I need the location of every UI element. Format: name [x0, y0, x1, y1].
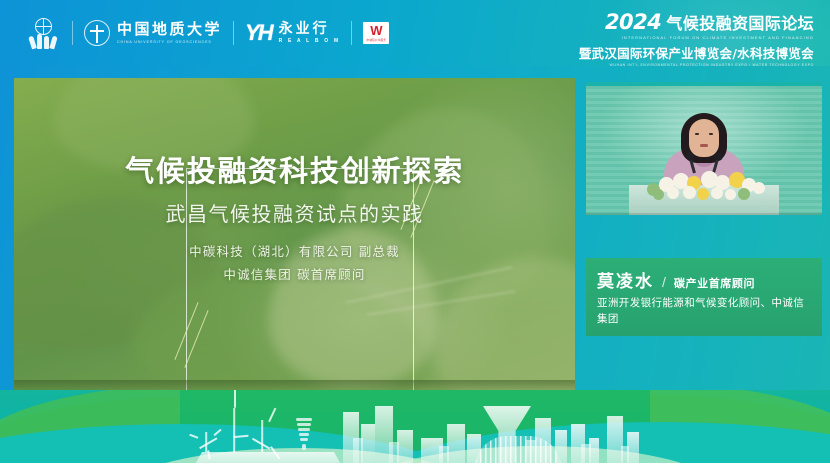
pagoda-tier: [298, 428, 310, 431]
flower: [753, 182, 765, 194]
video-top-edge: [586, 82, 822, 86]
turbine-blade: [189, 434, 198, 439]
speaker-info-panel: 莫凌水 / 碳产业首席顾问 亚洲开发银行能源和气候变化顾问、中诚信集团: [586, 258, 822, 336]
event-subtitle-en: WUHAN INT'L ENVIRONMENTAL PROTECTION IND…: [579, 63, 814, 66]
flower: [711, 187, 723, 199]
slide-affiliation-line: 中诚信集团 碳首席顾问: [14, 263, 575, 286]
figure-icon: [37, 34, 42, 49]
flower: [738, 188, 750, 200]
slide-affiliation-line: 中碳科技（湖北）有限公司 副总裁: [14, 240, 575, 263]
university-name-en: CHINA UNIVERSITY OF GEOSCIENCES: [117, 40, 222, 44]
speaker-face: [689, 119, 719, 157]
flower: [697, 188, 709, 200]
logo-partner: W 中城院公众服务: [352, 14, 400, 52]
pagoda-tier: [297, 423, 311, 426]
partner-caption: 中城院公众服务: [367, 38, 387, 42]
speaker-name: 莫凌水: [597, 267, 654, 292]
turbine-blade: [268, 408, 276, 422]
wind-turbine-icon: [205, 432, 207, 452]
sponsor-logo-row: 中国地质大学 CHINA UNIVERSITY OF GEOSCIENCES Y…: [16, 14, 400, 52]
partner-logo-box: W 中城院公众服务: [363, 22, 389, 44]
logo-china-university-of-geosciences: 中国地质大学 CHINA UNIVERSITY OF GEOSCIENCES: [73, 14, 233, 52]
video-bottom-edge: [586, 213, 822, 215]
flower: [653, 189, 664, 200]
speaker-affiliation: 亚洲开发银行能源和气候变化顾问、中诚信集团: [597, 296, 811, 328]
figure-icon: [28, 36, 37, 50]
globe-icon: [35, 18, 52, 35]
pagoda-tier: [300, 438, 308, 441]
building: [361, 424, 375, 468]
eye-icon: [709, 133, 713, 135]
flower: [683, 186, 696, 199]
event-header-bar: 中国地质大学 CHINA UNIVERSITY OF GEOSCIENCES Y…: [0, 0, 830, 66]
presentation-slide[interactable]: 气候投融资科技创新探索 武昌气候投融资试点的实践 中碳科技（湖北）有限公司 副总…: [14, 78, 575, 391]
bottom-decoration-band: [0, 390, 830, 468]
slide-affiliation-block: 中碳科技（湖北）有限公司 副总裁 中诚信集团 碳首席顾问: [14, 240, 575, 286]
flower: [667, 187, 679, 199]
broadcast-stage: 中国地质大学 CHINA UNIVERSITY OF GEOSCIENCES Y…: [0, 0, 830, 468]
figure-icon: [44, 36, 49, 49]
event-title-cn: 气候投融资国际论坛: [666, 10, 814, 34]
event-subtitle-cn: 暨武汉国际环保产业博览会/水科技博览会: [579, 43, 814, 62]
turbine-pole: [261, 420, 263, 452]
realbom-mark-icon: YH: [245, 20, 272, 46]
speaker-video-feed[interactable]: [586, 82, 822, 215]
slide-subtitle: 武昌气候投融资试点的实践: [14, 198, 575, 227]
turbine-blade: [199, 438, 217, 449]
speaker-role: 碳产业首席顾问: [674, 275, 755, 291]
logo-realbom: YH 永业行 R E A L B O M: [234, 14, 351, 52]
flower: [725, 189, 736, 200]
pagoda-tier: [296, 418, 312, 421]
event-title-block: 2024 气候投融资国际论坛 INTERNATIONAL FORUM ON CL…: [579, 10, 814, 66]
speaker-separator: /: [662, 274, 666, 290]
building: [447, 424, 465, 468]
realbom-name-en: R E A L B O M: [279, 38, 341, 44]
turbine-blade: [213, 429, 221, 436]
wind-turbine-icon: [261, 420, 263, 452]
realbom-name-cn: 永业行: [279, 22, 341, 37]
pagoda-tier: [299, 433, 309, 436]
turbine-pole: [233, 408, 235, 452]
event-year: 2024: [605, 10, 661, 34]
pagoda-icon: [293, 418, 315, 452]
turbine-pole: [205, 432, 207, 452]
city-skyline-illustration: [175, 390, 655, 468]
turbine-blade: [234, 390, 236, 408]
wind-turbine-icon: [233, 408, 235, 452]
logo-forum-emblem: [16, 14, 72, 52]
bottom-white-line: [0, 463, 830, 468]
forum-emblem-icon: [27, 16, 61, 50]
university-name-cn: 中国地质大学: [117, 22, 222, 38]
mouth-icon: [700, 144, 708, 147]
event-title-en: INTERNATIONAL FORUM ON CLIMATE INVESTMEN…: [579, 35, 814, 40]
turbine-blade: [233, 435, 248, 438]
pagoda-tier: [302, 444, 306, 450]
flower-arrangement: [643, 167, 765, 201]
partner-mark-icon: W: [370, 24, 382, 37]
slide-title: 气候投融资科技创新探索: [14, 148, 575, 190]
university-seal-icon: [84, 20, 110, 46]
figure-icon: [49, 36, 57, 50]
eye-icon: [695, 133, 699, 135]
